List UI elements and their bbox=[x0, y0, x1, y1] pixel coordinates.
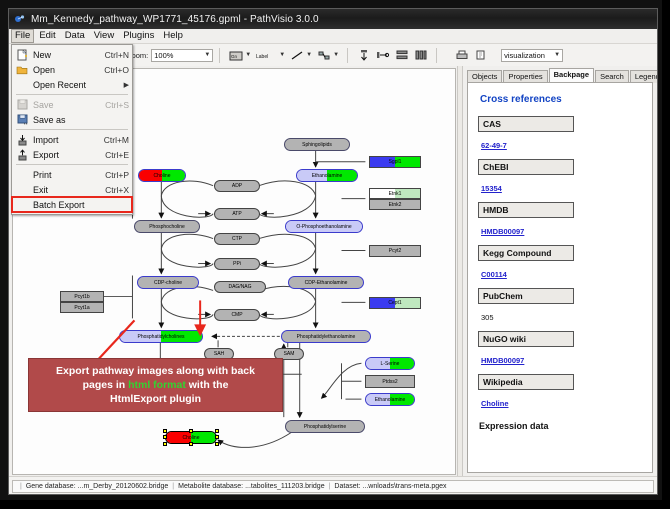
file-menu-separator bbox=[16, 164, 128, 165]
menu-edit[interactable]: Edit bbox=[35, 29, 59, 43]
xref-value-wikipedia[interactable]: Choline bbox=[481, 399, 509, 408]
file-menu-item-batch-export[interactable]: Batch Export bbox=[12, 197, 132, 212]
menu-file[interactable]: File bbox=[11, 29, 34, 43]
node-choline-top[interactable]: Choline bbox=[138, 169, 186, 182]
selection-handle[interactable] bbox=[163, 435, 167, 439]
align-top-icon[interactable] bbox=[355, 47, 372, 64]
toolbar-separator bbox=[219, 48, 220, 63]
copy-icon[interactable] bbox=[472, 47, 489, 64]
svg-text:Label: Label bbox=[256, 54, 268, 60]
node-ptdss2[interactable]: Ptdss2 bbox=[365, 375, 415, 388]
menu-view[interactable]: View bbox=[90, 29, 118, 43]
backpage-content[interactable]: Cross references CAS 62-49-7 ChEBI 15354… bbox=[467, 82, 653, 473]
xref-value-hmdb[interactable]: HMDB00097 bbox=[481, 227, 524, 236]
pathvisio-icon bbox=[13, 13, 26, 26]
node-pcyt2[interactable]: Pcyt2 bbox=[369, 245, 421, 257]
status-divider: | bbox=[172, 483, 174, 490]
file-menu-item-open[interactable]: Open Ctrl+O bbox=[12, 62, 132, 77]
node-phosphocholine[interactable]: Phosphocholine bbox=[134, 220, 200, 233]
node-ctp[interactable]: CTP bbox=[214, 233, 260, 245]
xref-db-pubchem: PubChem bbox=[478, 288, 574, 304]
save-as-icon bbox=[15, 113, 29, 126]
interaction-button[interactable] bbox=[315, 47, 332, 64]
node-etnk1[interactable]: Etnk1 bbox=[369, 188, 421, 199]
cross-references-heading: Cross references bbox=[480, 94, 642, 105]
stack-vertical-icon[interactable] bbox=[393, 47, 410, 64]
node-phosphatidylcholines[interactable]: Phosphatidylcholines bbox=[119, 330, 203, 343]
node-pcyt1b[interactable]: Pcyt1b bbox=[60, 291, 104, 302]
node-ethanolamine-top[interactable]: Ethanolamine bbox=[296, 169, 358, 182]
datanode-dropdown-icon[interactable]: ▼ bbox=[245, 52, 251, 58]
zoom-combo[interactable]: 100% ▼ bbox=[151, 49, 213, 62]
node-sphingolipids[interactable]: Sphingolipids bbox=[284, 138, 350, 151]
file-menu-item-import[interactable]: Import Ctrl+M bbox=[12, 132, 132, 147]
submenu-arrow-icon: ▶ bbox=[124, 81, 129, 89]
gene-database-value: ...m_Derby_20120602.bridge bbox=[78, 483, 169, 490]
menu-bar: File Edit Data View Plugins Help bbox=[9, 29, 657, 44]
node-dag-nag[interactable]: DAG/NAG bbox=[214, 281, 266, 293]
xref-db-nugo-wiki: NuGO wiki bbox=[478, 331, 574, 347]
file-menu-separator bbox=[16, 94, 128, 95]
frame-inner: Mm_Kennedy_pathway_WP1771_45176.gpml - P… bbox=[0, 0, 662, 500]
metabolite-database-value: ...tabolites_111203.bridge bbox=[245, 483, 325, 490]
selection-handle[interactable] bbox=[163, 442, 167, 446]
file-menu-item-save: Save Ctrl+S bbox=[12, 97, 132, 112]
spacer-icon bbox=[15, 183, 29, 196]
file-menu-item-open-recent[interactable]: Open Recent ▶ bbox=[12, 77, 132, 92]
node-sgpl1[interactable]: Sgpl1 bbox=[369, 156, 421, 168]
title-bar: Mm_Kennedy_pathway_WP1771_45176.gpml - P… bbox=[9, 9, 657, 29]
align-left-icon[interactable] bbox=[374, 47, 391, 64]
file-menu-separator bbox=[16, 129, 128, 130]
xref-db-cas: CAS bbox=[478, 116, 574, 132]
selection-handle[interactable] bbox=[189, 429, 193, 433]
datanode-button[interactable]: Gn bbox=[227, 47, 244, 64]
status-divider: | bbox=[329, 483, 331, 490]
node-cmp[interactable]: CMP bbox=[214, 309, 260, 321]
selection-handle[interactable] bbox=[215, 442, 219, 446]
label-button[interactable]: Label bbox=[254, 47, 278, 64]
xref-value-kegg-compound[interactable]: C00114 bbox=[481, 270, 507, 279]
xref-db-kegg-compound: Kegg Compound bbox=[478, 245, 574, 261]
import-icon bbox=[15, 133, 29, 146]
menu-plugins[interactable]: Plugins bbox=[119, 29, 158, 43]
xref-db-wikipedia: Wikipedia bbox=[478, 374, 574, 390]
callout-line3: HtmlExport plugin bbox=[110, 393, 201, 405]
label-dropdown-icon[interactable]: ▼ bbox=[279, 52, 285, 58]
file-menu-dropdown[interactable]: New Ctrl+N Open Ctrl+O Open Recent ▶ bbox=[11, 44, 133, 215]
xref-db-chebi: ChEBI bbox=[478, 159, 574, 175]
callout-text: Export pathway images along with back pa… bbox=[50, 364, 261, 406]
node-ethanolamine-bottom[interactable]: Ethanolamine bbox=[365, 393, 415, 406]
file-menu-item-export[interactable]: Export Ctrl+E bbox=[12, 147, 132, 162]
expression-data-heading: Expression data bbox=[479, 421, 642, 431]
node-cdp-ethanolamine[interactable]: CDP-Ethanolamine bbox=[288, 276, 364, 289]
svg-text:Gn: Gn bbox=[231, 54, 238, 59]
visualization-combo[interactable]: visualization ▼ bbox=[501, 49, 563, 62]
spacer-icon bbox=[15, 78, 29, 91]
status-bar-inner: | Gene database: ...m_Derby_20120602.bri… bbox=[12, 480, 654, 493]
callout-line2-b: with the bbox=[186, 379, 229, 391]
node-cept1[interactable]: Cept1 bbox=[369, 297, 421, 309]
xref-value-cas[interactable]: 62-49-7 bbox=[481, 141, 507, 150]
node-l-serine[interactable]: L-Serine bbox=[365, 357, 415, 370]
xref-db-hmdb: HMDB bbox=[478, 202, 574, 218]
menu-data[interactable]: Data bbox=[61, 29, 89, 43]
window-title: Mm_Kennedy_pathway_WP1771_45176.gpml - P… bbox=[31, 14, 319, 25]
node-adp[interactable]: ADP bbox=[214, 180, 260, 192]
spacer-icon bbox=[15, 168, 29, 181]
pathvisio-window: Mm_Kennedy_pathway_WP1771_45176.gpml - P… bbox=[8, 8, 658, 495]
file-menu-item-exit[interactable]: Exit Ctrl+X bbox=[12, 182, 132, 197]
xref-value-nugo-wiki[interactable]: HMDB00097 bbox=[481, 356, 524, 365]
interaction-dropdown-icon[interactable]: ▼ bbox=[333, 52, 339, 58]
status-bar: | Gene database: ...m_Derby_20120602.bri… bbox=[9, 476, 657, 495]
node-etnk2[interactable]: Etnk2 bbox=[369, 199, 421, 210]
tab-backpage[interactable]: Backpage bbox=[549, 68, 594, 82]
node-phosphatidylserine[interactable]: Phosphatidylserine bbox=[285, 420, 365, 433]
new-file-icon bbox=[15, 48, 29, 61]
node-phosphatidylethanolamine[interactable]: Phosphatidylethanolamine bbox=[281, 330, 371, 343]
callout-line2-a: pages in bbox=[83, 379, 129, 391]
visualization-value: visualization bbox=[504, 51, 545, 60]
stack-horizontal-icon[interactable] bbox=[412, 47, 429, 64]
export-icon bbox=[15, 148, 29, 161]
node-cdp-choline[interactable]: CDP-choline bbox=[137, 276, 199, 289]
node-pcyt1a[interactable]: Pcyt1a bbox=[60, 302, 104, 313]
spacer-icon bbox=[15, 198, 29, 211]
gene-database-label: Gene database: bbox=[26, 483, 76, 490]
side-panel-tabs: Objects Properties Backpage Search Legen… bbox=[465, 68, 655, 82]
toolbar-separator bbox=[436, 48, 437, 63]
print-icon[interactable] bbox=[453, 47, 470, 64]
file-menu-item-new[interactable]: New Ctrl+N bbox=[12, 47, 132, 62]
callout-line1: Export pathway images along with back bbox=[56, 365, 255, 377]
annotation-callout: Export pathway images along with back pa… bbox=[28, 358, 283, 412]
side-panel: Objects Properties Backpage Search Legen… bbox=[463, 66, 657, 476]
zoom-value: 100% bbox=[154, 51, 173, 60]
line-dropdown-icon[interactable]: ▼ bbox=[306, 52, 312, 58]
dataset-label: Dataset: bbox=[334, 483, 360, 490]
dataset-value: ...wnloads\trans-meta.pgex bbox=[362, 483, 446, 490]
menu-help[interactable]: Help bbox=[159, 29, 187, 43]
screenshot-frame: Mm_Kennedy_pathway_WP1771_45176.gpml - P… bbox=[0, 0, 670, 509]
xref-value-chebi[interactable]: 15354 bbox=[481, 184, 502, 193]
chevron-down-icon: ▼ bbox=[204, 52, 210, 58]
node-ppi[interactable]: PPi bbox=[214, 258, 260, 270]
node-atp[interactable]: ATP bbox=[214, 208, 260, 220]
xref-value-pubchem: 305 bbox=[481, 313, 494, 322]
node-o-phosphoethanolamine[interactable]: O-Phosphoethanolamine bbox=[285, 220, 363, 233]
selection-handle[interactable] bbox=[215, 429, 219, 433]
selection-handle[interactable] bbox=[215, 435, 219, 439]
line-button[interactable] bbox=[288, 47, 305, 64]
file-menu-item-save-as[interactable]: Save as bbox=[12, 112, 132, 127]
file-menu-item-print[interactable]: Print Ctrl+P bbox=[12, 167, 132, 182]
selection-handle[interactable] bbox=[163, 429, 167, 433]
chevron-down-icon: ▼ bbox=[554, 52, 560, 58]
status-divider: | bbox=[20, 483, 22, 490]
callout-line2-green: html format bbox=[128, 379, 186, 391]
toolbar-separator bbox=[347, 48, 348, 63]
selection-handle[interactable] bbox=[189, 442, 193, 446]
metabolite-database-label: Metabolite database: bbox=[178, 483, 243, 490]
open-folder-icon bbox=[15, 63, 29, 76]
save-disk-icon bbox=[15, 98, 29, 111]
